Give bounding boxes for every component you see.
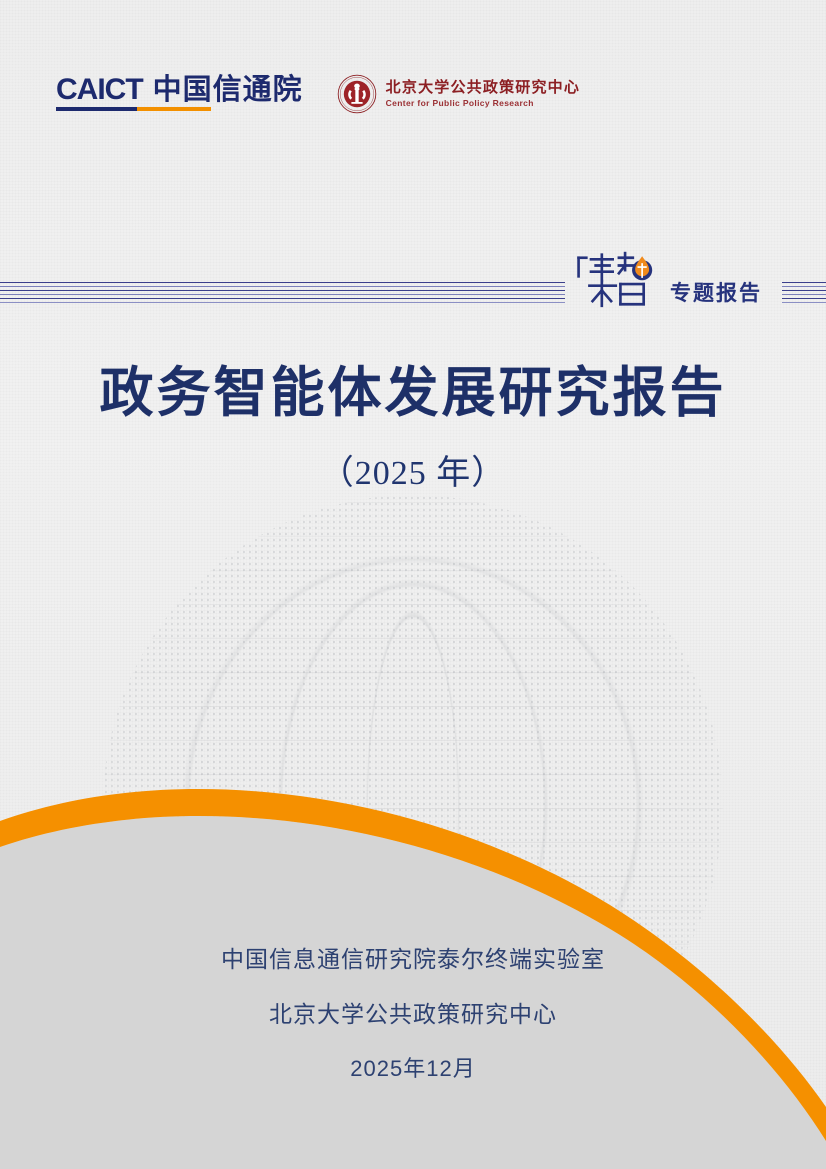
pku-logo: 北京大学公共政策研究中心 Center for Public Policy Re…	[337, 72, 580, 114]
caict-name-cn: 中国信通院	[153, 76, 303, 105]
logo-row: CAICT 中国信通院 北京大	[56, 72, 580, 114]
series-badge-label: 专题报告	[670, 283, 762, 312]
rule-lines-right	[782, 281, 826, 305]
caict-wordmark: CAICT	[56, 75, 143, 105]
pku-seal-icon	[337, 74, 377, 114]
pku-logo-text: 北京大学公共政策研究中心 Center for Public Policy Re…	[386, 80, 580, 108]
caict-logo-top: CAICT 中国信通院	[56, 75, 303, 105]
document-subtitle: （2025 年）	[0, 454, 826, 495]
footer-block: 中国信息通信研究院泰尔终端实验室 北京大学公共政策研究中心 2025年12月	[0, 948, 826, 1080]
jizhi-logo-icon	[572, 250, 658, 312]
document-title: 政务智能体发展研究报告	[0, 360, 826, 428]
footer-organization-1: 中国信息通信研究院泰尔终端实验室	[0, 948, 826, 971]
caict-bar-orange-segment	[137, 107, 211, 111]
caict-bar-blue-segment	[56, 107, 137, 111]
report-cover-page: CAICT 中国信通院 北京大	[0, 0, 826, 1169]
pku-name-cn: 北京大学公共政策研究中心	[386, 80, 580, 97]
title-block: 政务智能体发展研究报告 （2025 年）	[0, 360, 826, 494]
footer-date: 2025年12月	[0, 1058, 826, 1080]
series-badge: 专题报告	[572, 246, 762, 312]
pku-name-en: Center for Public Policy Research	[386, 99, 580, 108]
footer-organization-2: 北京大学公共政策研究中心	[0, 1003, 826, 1026]
caict-logo: CAICT 中国信通院	[56, 75, 303, 111]
caict-underline-bar	[56, 107, 211, 111]
rule-lines-left	[0, 281, 565, 305]
